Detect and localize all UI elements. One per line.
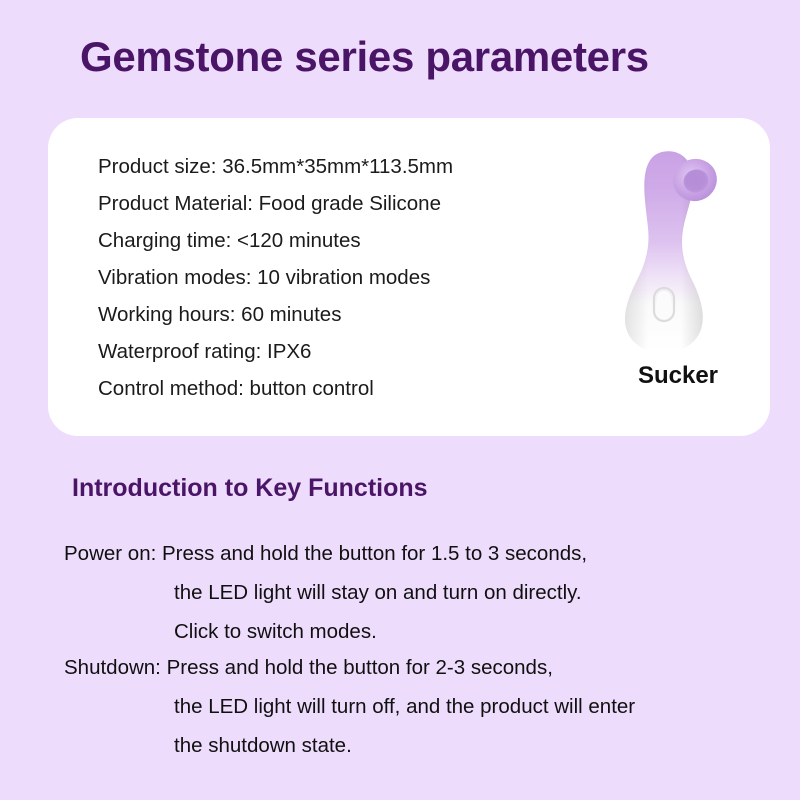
power-on-line-2: the LED light will stay on and turn on d… <box>64 573 764 612</box>
spec-card: Product size: 36.5mm*35mm*113.5mm Produc… <box>48 118 770 436</box>
shutdown-instructions: Shutdown: Press and hold the button for … <box>64 648 764 765</box>
spec-item-product-material: Product Material: Food grade Silicone <box>98 185 528 222</box>
product-device-image <box>588 140 768 360</box>
key-functions-heading: Introduction to Key Functions <box>72 474 428 503</box>
spec-item-control-method: Control method: button control <box>98 370 528 407</box>
power-button-face <box>657 291 671 318</box>
product-caption: Sucker <box>588 362 768 390</box>
spec-item-vibration-modes: Vibration modes: 10 vibration modes <box>98 259 528 296</box>
shutdown-line-2: the LED light will turn off, and the pro… <box>64 687 764 726</box>
spec-item-working-hours: Working hours: 60 minutes <box>98 296 528 333</box>
product-figure: Sucker <box>588 140 768 410</box>
shutdown-line-3: the shutdown state. <box>64 726 764 765</box>
product-spec-page: Gemstone series parameters Product size:… <box>0 0 800 800</box>
spec-list: Product size: 36.5mm*35mm*113.5mm Produc… <box>98 148 528 407</box>
power-on-line-3: Click to switch modes. <box>64 612 764 651</box>
power-on-line-1: Power on: Press and hold the button for … <box>64 534 764 573</box>
spec-item-waterproof-rating: Waterproof rating: IPX6 <box>98 333 528 370</box>
shutdown-line-1: Shutdown: Press and hold the button for … <box>64 648 764 687</box>
spec-item-product-size: Product size: 36.5mm*35mm*113.5mm <box>98 148 528 185</box>
page-title: Gemstone series parameters <box>80 33 649 81</box>
spec-item-charging-time: Charging time: <120 minutes <box>98 222 528 259</box>
power-on-instructions: Power on: Press and hold the button for … <box>64 534 764 651</box>
